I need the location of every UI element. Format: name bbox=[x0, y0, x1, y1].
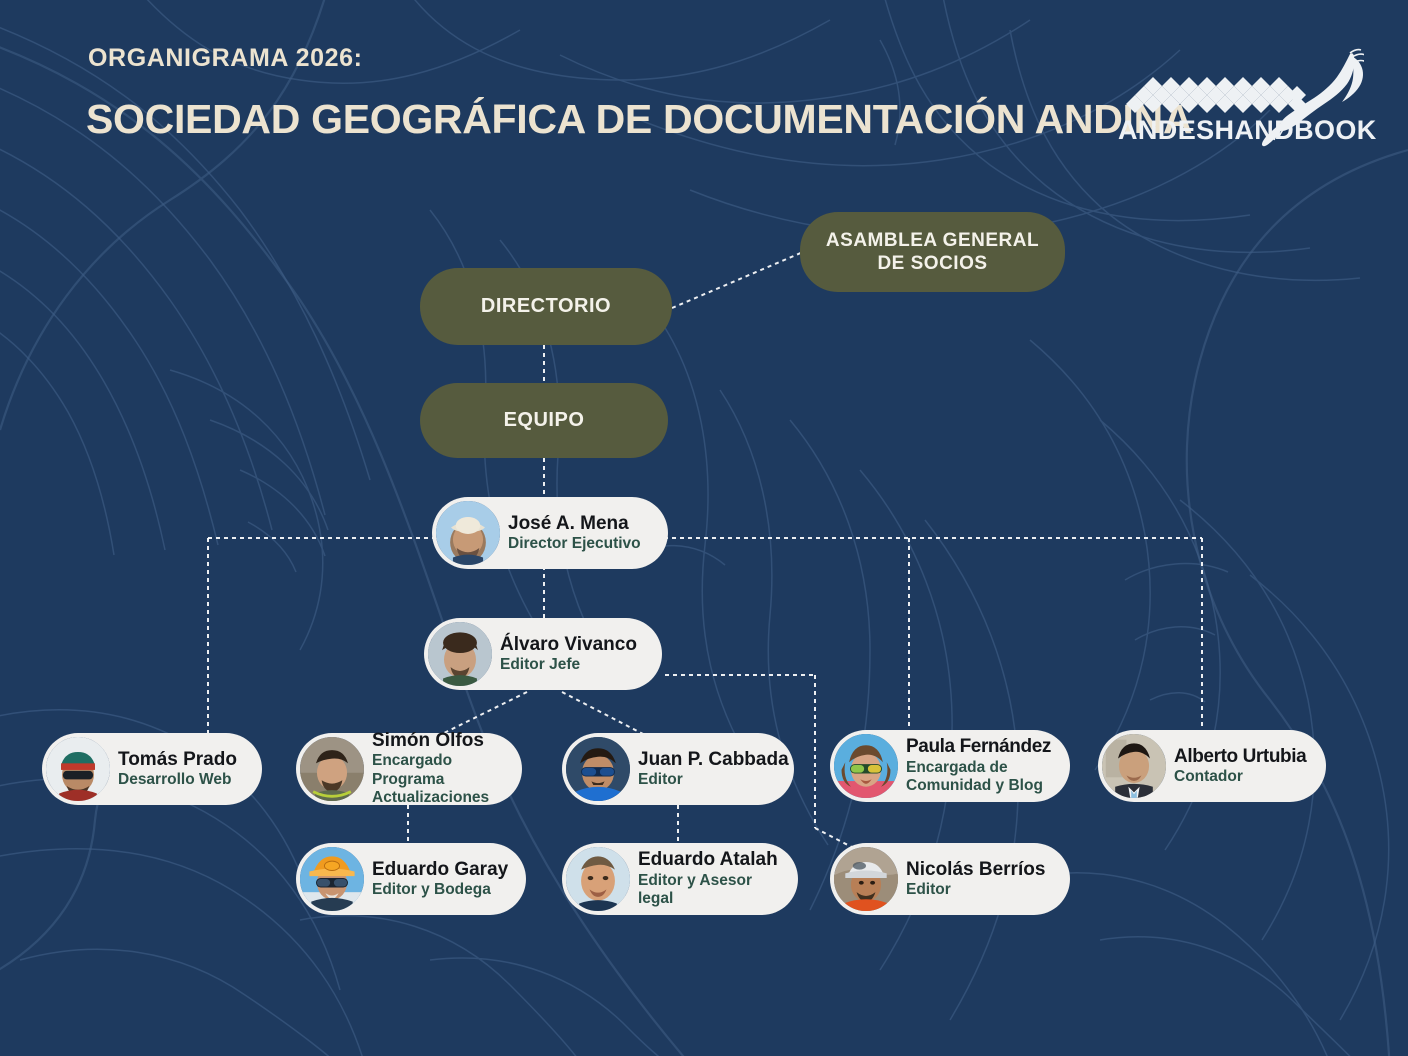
avatar-paula-fernandez bbox=[832, 732, 900, 800]
person-name: Simón Olfos bbox=[372, 730, 484, 751]
page-title: SOCIEDAD GEOGRÁFICA DE DOCUMENTACIÓN AND… bbox=[86, 96, 1192, 143]
node-equipo[interactable]: EQUIPO bbox=[420, 383, 668, 458]
person-role: Editor bbox=[906, 881, 1054, 900]
person-role-line-2: legal bbox=[638, 890, 782, 909]
person-card-tomas-prado[interactable]: Tomás Prado Desarrollo Web bbox=[42, 733, 262, 805]
node-directorio[interactable]: DIRECTORIO bbox=[420, 268, 672, 345]
equipo-label: EQUIPO bbox=[504, 408, 585, 432]
organigrama-poster: ORGANIGRAMA 2026: SOCIEDAD GEOGRÁFICA DE… bbox=[0, 0, 1408, 1056]
kicker-text: ORGANIGRAMA 2026: bbox=[88, 44, 363, 73]
person-name: Eduardo Atalah bbox=[638, 849, 778, 870]
person-card-jose-mena[interactable]: José A. Mena Director Ejecutivo bbox=[432, 497, 668, 569]
person-name: Juan P. Cabbada bbox=[638, 749, 789, 770]
person-name: Eduardo Garay bbox=[372, 859, 508, 880]
logo-wordmark: ANDESHANDBOOK bbox=[1118, 115, 1350, 146]
person-name: Nicolás Berríos bbox=[906, 859, 1045, 880]
avatar-juan-cabbada bbox=[564, 735, 632, 803]
person-role-line-1: Encargada de bbox=[906, 759, 1054, 778]
person-role: Director Ejecutivo bbox=[508, 535, 652, 554]
avatar-alvaro-vivanco bbox=[426, 620, 494, 688]
person-card-alvaro-vivanco[interactable]: Álvaro Vivanco Editor Jefe bbox=[424, 618, 662, 690]
asamblea-line-1: ASAMBLEA GENERAL bbox=[826, 230, 1039, 251]
person-card-simon-olfos[interactable]: Simón Olfos Encargado Programa Actualiza… bbox=[296, 733, 522, 805]
diamond-band-icon bbox=[1126, 77, 1306, 113]
wire-alvaro-juan bbox=[562, 692, 645, 735]
avatar-eduardo-garay bbox=[298, 845, 366, 913]
avatar-nicolas-berrios bbox=[832, 845, 900, 913]
person-role-line-1: Encargado Programa bbox=[372, 752, 506, 789]
person-name: José A. Mena bbox=[508, 513, 629, 534]
person-name: Tomás Prado bbox=[118, 749, 237, 770]
person-card-paula-fernandez[interactable]: Paula Fernández Encargada de Comunidad y… bbox=[830, 730, 1070, 802]
person-card-nicolas-berrios[interactable]: Nicolás Berríos Editor bbox=[830, 843, 1070, 915]
asamblea-line-2: DE SOCIOS bbox=[877, 253, 987, 274]
person-role: Editor y Bodega bbox=[372, 881, 510, 900]
person-card-juan-cabbada[interactable]: Juan P. Cabbada Editor bbox=[562, 733, 794, 805]
person-name: Paula Fernández bbox=[906, 736, 1051, 757]
person-card-eduardo-garay[interactable]: Eduardo Garay Editor y Bodega bbox=[296, 843, 526, 915]
person-card-eduardo-atalah[interactable]: Eduardo Atalah Editor y Asesor legal bbox=[562, 843, 798, 915]
person-role: Desarrollo Web bbox=[118, 771, 246, 790]
person-role-line-2: Actualizaciones bbox=[372, 789, 506, 808]
node-asamblea-general[interactable]: ASAMBLEA GENERAL DE SOCIOS bbox=[800, 212, 1065, 292]
avatar-jose-mena bbox=[434, 499, 502, 567]
person-name: Alberto Urtubia bbox=[1174, 746, 1306, 767]
person-role-line-2: Comunidad y Blog bbox=[906, 777, 1054, 796]
avatar-simon-olfos bbox=[298, 735, 366, 803]
avatar-tomas-prado bbox=[44, 735, 112, 803]
avatar-alberto-urtubia bbox=[1100, 732, 1168, 800]
wire-alvaro-simon bbox=[440, 692, 527, 735]
person-role-line-1: Editor y Asesor bbox=[638, 872, 782, 891]
wire-directorio-asamblea bbox=[672, 252, 803, 308]
person-name: Álvaro Vivanco bbox=[500, 634, 637, 655]
person-role: Editor Jefe bbox=[500, 656, 646, 675]
person-role: Editor bbox=[638, 771, 778, 790]
person-card-alberto-urtubia[interactable]: Alberto Urtubia Contador bbox=[1098, 730, 1326, 802]
person-role: Contador bbox=[1174, 768, 1310, 787]
avatar-eduardo-atalah bbox=[564, 845, 632, 913]
directorio-label: DIRECTORIO bbox=[481, 294, 611, 318]
